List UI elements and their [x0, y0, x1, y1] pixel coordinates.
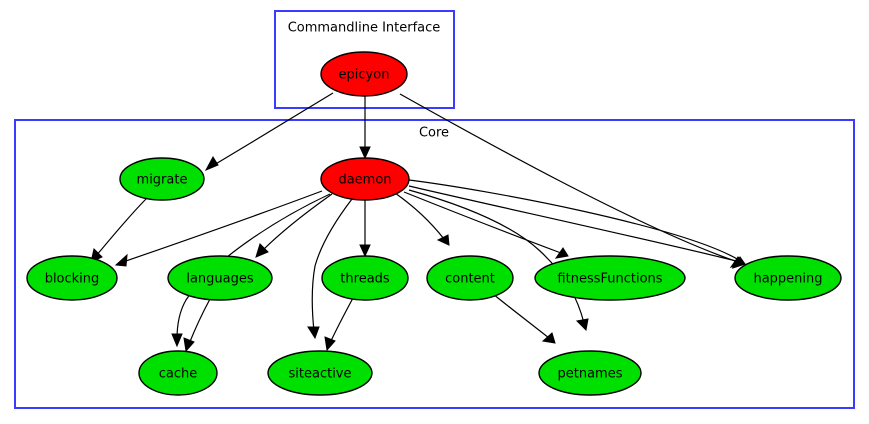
node-siteactive[interactable]: siteactive: [268, 351, 372, 395]
diagram-canvas: Commandline InterfaceCore epicyonmigrate…: [0, 0, 869, 424]
node-epicyon[interactable]: epicyon: [321, 52, 407, 96]
node-label: migrate: [137, 173, 188, 188]
edge-daemon-to-fitnessFunctions: [404, 192, 568, 258]
edge-daemon-to-happening: [409, 186, 743, 267]
edge-daemon-to-happening: [409, 180, 745, 267]
arrowhead-icon: [360, 147, 370, 158]
edge-line: [330, 298, 353, 343]
edge-line: [189, 299, 210, 344]
node-migrate[interactable]: migrate: [120, 158, 204, 200]
edge-daemon-to-petnames: [409, 190, 588, 330]
node-label: fitnessFunctions: [557, 272, 662, 287]
node-label: languages: [186, 272, 254, 287]
node-label: cache: [159, 367, 198, 382]
node-languages[interactable]: languages: [168, 256, 272, 300]
dependency-graph-svg: Commandline InterfaceCore epicyonmigrate…: [0, 0, 869, 424]
edge-epicyon-to-migrate: [206, 93, 333, 170]
node-label: daemon: [338, 173, 391, 188]
cluster-label: Commandline Interface: [288, 21, 441, 36]
node-label: happening: [753, 272, 822, 287]
edge-daemon-to-blocking: [116, 191, 322, 266]
node-threads[interactable]: threads: [322, 256, 408, 300]
node-cache[interactable]: cache: [139, 351, 217, 395]
node-label: content: [445, 272, 495, 287]
node-label: petnames: [558, 367, 623, 382]
edge-daemon-to-languages: [256, 194, 332, 257]
arrowhead-icon: [256, 244, 268, 257]
edge-epicyon-to-daemon: [360, 96, 370, 158]
arrowhead-icon: [577, 319, 588, 330]
edge-migrate-to-blocking: [91, 198, 147, 262]
edge-threads-to-siteactive: [325, 298, 353, 350]
edge-line: [96, 198, 147, 256]
node-label: threads: [340, 272, 390, 287]
arrowhead-icon: [206, 157, 218, 170]
edge-daemon-to-content: [395, 193, 449, 245]
edge-daemon-to-threads: [360, 200, 370, 256]
node-label: siteactive: [289, 367, 352, 382]
edge-line: [409, 180, 739, 260]
arrowhead-icon: [556, 248, 568, 258]
node-blocking[interactable]: blocking: [27, 256, 117, 300]
edge-line: [214, 93, 333, 165]
node-content[interactable]: content: [427, 256, 513, 300]
arrowhead-icon: [438, 235, 449, 245]
edge-line: [493, 294, 549, 338]
cluster-group: Commandline InterfaceCore: [15, 11, 854, 408]
arrowhead-icon: [360, 245, 370, 256]
arrowhead-icon: [325, 337, 335, 350]
node-label: blocking: [45, 272, 100, 287]
arrowhead-icon: [172, 334, 182, 346]
node-petnames[interactable]: petnames: [539, 351, 641, 395]
arrowhead-icon: [184, 338, 194, 351]
node-daemon[interactable]: daemon: [321, 158, 409, 200]
node-happening[interactable]: happening: [735, 256, 841, 300]
node-group: epicyonmigratedaemonblockinglanguagesthr…: [27, 52, 841, 395]
cluster-label: Core: [419, 126, 449, 141]
node-fitnessFunctions[interactable]: fitnessFunctions: [535, 256, 685, 300]
edge-line: [262, 194, 332, 251]
edge-line: [123, 191, 322, 262]
edge-line: [395, 193, 444, 239]
edge-line: [409, 186, 736, 261]
edge-content-to-petnames: [493, 294, 555, 343]
node-label: epicyon: [339, 68, 390, 83]
arrowhead-icon: [116, 255, 127, 266]
edge-languages-to-cache: [184, 299, 210, 351]
arrowhead-icon: [308, 327, 319, 338]
